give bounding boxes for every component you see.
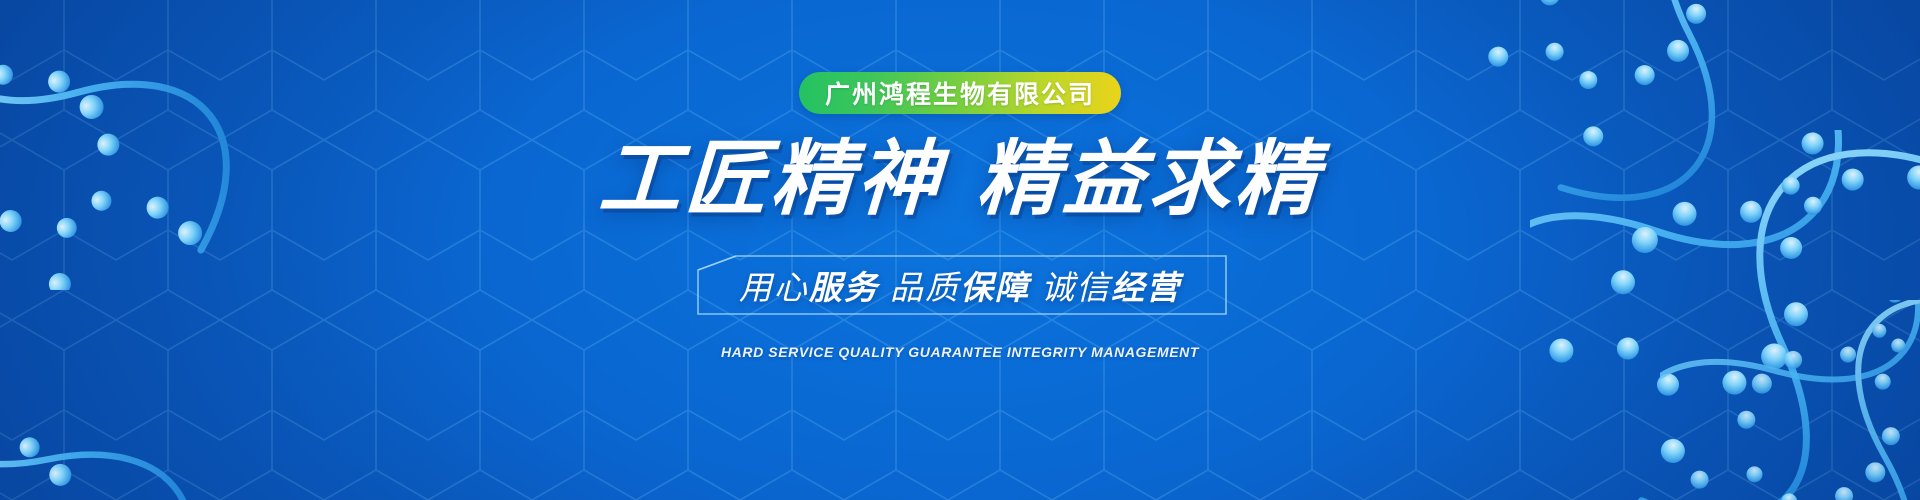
company-name-label: 广州鸿程生物有限公司 [825, 75, 1095, 111]
subtitle-seg-3: 品质 [890, 269, 960, 306]
english-tagline: HARD SERVICE QUALITY GUARANTEE INTEGRITY… [721, 344, 1199, 360]
headline-part-1: 工匠精神 [597, 134, 946, 225]
promo-banner: 广州鸿程生物有限公司 工匠精神精益求精 用心服务 品质保障 诚信经营 HARD … [0, 0, 1920, 500]
subtitle-bracket: 用心服务 品质保障 诚信经营 [690, 252, 1230, 318]
company-name-badge: 广州鸿程生物有限公司 [799, 72, 1121, 114]
headline-part-2: 精益求精 [975, 134, 1324, 225]
headline: 工匠精神精益求精 [597, 138, 1323, 222]
subtitle: 用心服务 品质保障 诚信经营 [739, 261, 1181, 309]
subtitle-seg-6: 经营 [1111, 269, 1181, 306]
banner-content: 广州鸿程生物有限公司 工匠精神精益求精 用心服务 品质保障 诚信经营 HARD … [0, 0, 1920, 500]
subtitle-seg-2: 服务 [809, 269, 879, 306]
subtitle-seg-5: 诚信 [1041, 269, 1111, 306]
subtitle-seg-4: 保障 [960, 269, 1030, 306]
subtitle-seg-1: 用心 [739, 269, 809, 306]
